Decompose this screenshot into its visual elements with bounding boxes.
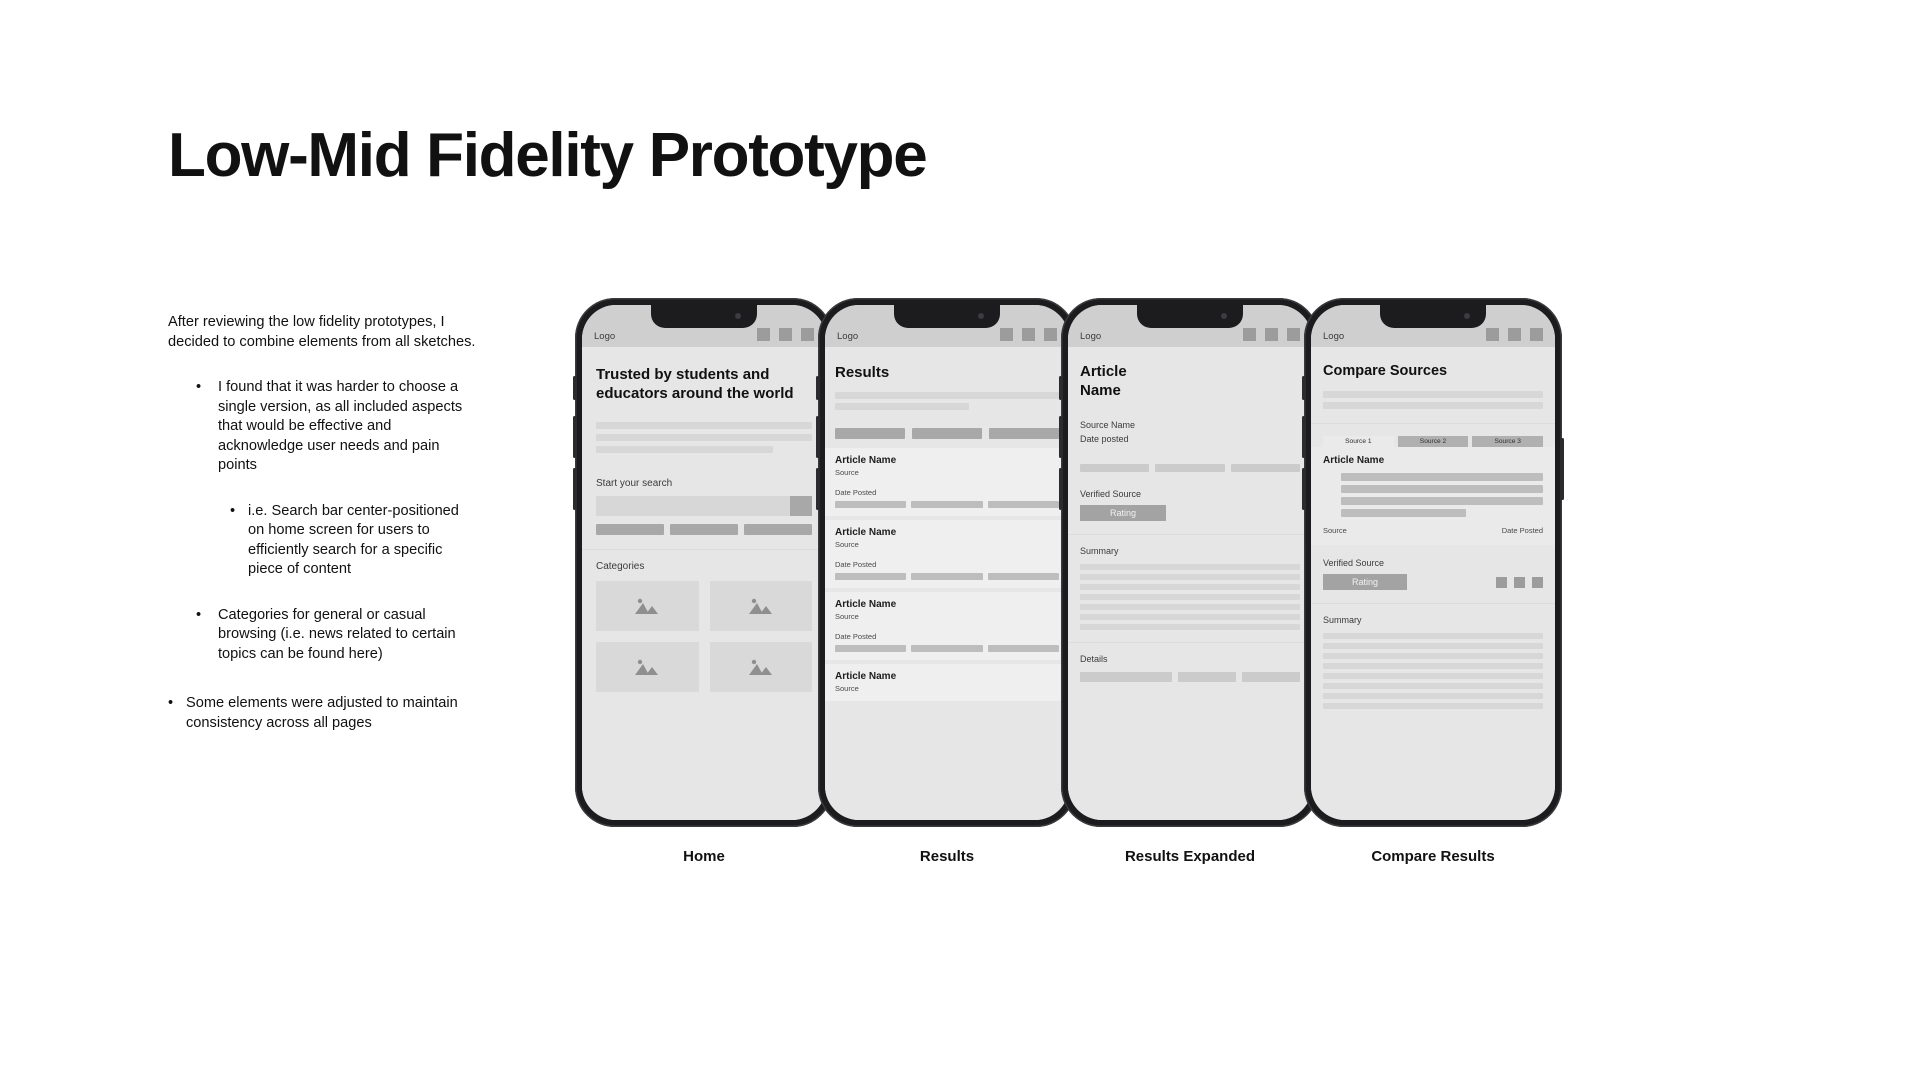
date-posted: Date posted — [1080, 434, 1300, 444]
placeholder-bar — [835, 573, 906, 580]
power-button — [1561, 438, 1564, 500]
filter-chip[interactable] — [670, 524, 738, 535]
article-title: Article Name — [835, 527, 1059, 538]
article-source: Source — [835, 684, 1059, 693]
placeholder-bar — [1323, 683, 1543, 689]
placeholder-bar — [835, 392, 1059, 399]
phone-screen-compare: Logo Compare Sources Source 1 Source — [1311, 305, 1555, 820]
nav-square-icon[interactable] — [801, 328, 814, 341]
nav-square-icon[interactable] — [1044, 328, 1057, 341]
search-icon[interactable] — [790, 496, 812, 516]
filter-chip[interactable] — [835, 428, 905, 439]
list-item: • I found that it was harder to choose a… — [196, 378, 478, 476]
divider — [1068, 534, 1312, 535]
nav-square-icon[interactable] — [1000, 328, 1013, 341]
camera-icon — [735, 313, 741, 319]
placeholder-bar — [1323, 693, 1543, 699]
camera-icon — [1221, 313, 1227, 319]
details-label: Details — [1080, 654, 1300, 664]
phone-caption-results-expanded: Results Expanded — [1061, 848, 1319, 865]
nav-square-icon[interactable] — [757, 328, 770, 341]
divider — [1311, 603, 1555, 604]
volume-up-button — [1302, 416, 1305, 458]
article-source: Source — [835, 612, 1059, 621]
page-title: Low-Mid Fidelity Prototype — [168, 120, 926, 191]
placeholder-bar — [1323, 663, 1543, 669]
verified-source-label: Verified Source — [1323, 558, 1543, 568]
volume-down-button — [816, 468, 819, 510]
placeholder-bar — [1323, 391, 1543, 398]
placeholder-bar — [1323, 633, 1543, 639]
phone-caption-home: Home — [575, 848, 833, 865]
rating-square-icon[interactable] — [1514, 577, 1525, 588]
rating-square-icon[interactable] — [1532, 577, 1543, 588]
hero-text-placeholder — [596, 422, 812, 453]
placeholder-bar — [835, 501, 906, 508]
article-date: Date Posted — [1502, 526, 1543, 535]
image-placeholder-icon — [748, 657, 774, 677]
summary-label: Summary — [1080, 546, 1300, 556]
tab-source-1[interactable]: Source 1 — [1323, 436, 1394, 447]
placeholder-bar — [911, 573, 982, 580]
action-chip[interactable] — [1155, 464, 1224, 472]
placeholder-bar — [988, 645, 1059, 652]
image-placeholder-icon — [634, 657, 660, 677]
action-chip[interactable] — [1231, 464, 1300, 472]
placeholder-bar — [596, 422, 812, 429]
details-chip-row — [1080, 672, 1300, 682]
volume-down-button — [1302, 468, 1305, 510]
article-date: Date Posted — [835, 560, 1059, 569]
nav-square-icon[interactable] — [1022, 328, 1035, 341]
notes-lead: After reviewing the low fidelity prototy… — [168, 313, 478, 352]
detail-chip[interactable] — [1242, 672, 1300, 682]
list-item: • Some elements were adjusted to maintai… — [168, 694, 478, 733]
results-expanded-body: Article Name Source Name Date posted Ver… — [1068, 362, 1312, 820]
phone-mockup-compare-results: Logo Compare Sources Source 1 Source — [1304, 298, 1562, 827]
divider — [1068, 642, 1312, 643]
category-grid-row — [596, 642, 812, 692]
placeholder-bar — [1323, 402, 1543, 409]
nav-square-icon[interactable] — [1486, 328, 1499, 341]
placeholder-bar — [835, 645, 906, 652]
nav-square-icon[interactable] — [1243, 328, 1256, 341]
article-heading-line2: Name — [1080, 381, 1300, 400]
image-placeholder-icon — [748, 596, 774, 616]
filter-chip-row — [596, 524, 812, 535]
phone-mockup-results: Logo Results — [818, 298, 1076, 827]
article-card[interactable]: Article Name Source Date Posted — [825, 520, 1069, 588]
summary-label: Summary — [1323, 615, 1543, 625]
hero-heading: Trusted by students and educators around… — [596, 365, 812, 403]
list-item-text: Some elements were adjusted to maintain … — [186, 694, 478, 733]
category-card[interactable] — [596, 581, 699, 631]
article-title: Article Name — [1323, 455, 1543, 466]
subtext-placeholder — [1323, 391, 1543, 409]
compare-body: Compare Sources Source 1 Source 2 Source… — [1311, 362, 1555, 820]
nav-icon-group — [1000, 328, 1057, 342]
phone-mockup-results-expanded: Logo Article Name Source Name Date poste… — [1061, 298, 1319, 827]
article-card[interactable]: Article Name Source Date Posted — [825, 592, 1069, 660]
placeholder-bar — [1080, 584, 1300, 590]
logo: Logo — [837, 331, 858, 342]
placeholder-bar — [1341, 497, 1543, 505]
volume-down-button — [1059, 468, 1062, 510]
summary-placeholder — [1080, 564, 1300, 630]
logo: Logo — [594, 331, 615, 342]
placeholder-bar — [1080, 564, 1300, 570]
volume-up-button — [1059, 416, 1062, 458]
placeholder-bar — [1080, 604, 1300, 610]
placeholder-bar — [596, 434, 812, 441]
phone-screen-results: Logo Results — [825, 305, 1069, 820]
placeholder-bar — [1080, 624, 1300, 630]
article-meta-row — [835, 573, 1059, 580]
volume-down-button — [573, 468, 576, 510]
placeholder-bar — [1080, 574, 1300, 580]
article-body-placeholder — [1323, 473, 1543, 517]
phone-caption-results: Results — [818, 848, 1076, 865]
action-chip-row — [1080, 464, 1300, 472]
article-source: Source — [835, 468, 1059, 477]
mute-switch — [1059, 376, 1062, 400]
volume-up-button — [573, 416, 576, 458]
list-item-text: I found that it was harder to choose a s… — [218, 378, 478, 476]
notch — [651, 305, 757, 328]
bullet-icon: • — [196, 606, 201, 626]
phone-caption-compare-results: Compare Results — [1304, 848, 1562, 865]
rating-icon-group — [1496, 577, 1543, 588]
placeholder-bar — [1323, 643, 1543, 649]
search-row[interactable] — [596, 496, 812, 516]
detail-chip[interactable] — [1080, 672, 1172, 682]
volume-up-button — [816, 416, 819, 458]
article-heading-line1: Article — [1080, 362, 1300, 381]
source-tab-row: Source 1 Source 2 Source 3 — [1323, 436, 1543, 447]
rating-square-icon[interactable] — [1496, 577, 1507, 588]
logo: Logo — [1080, 331, 1101, 342]
tab-source-2[interactable]: Source 2 — [1398, 436, 1469, 447]
article-source: Source — [835, 540, 1059, 549]
home-body: Trusted by students and educators around… — [582, 365, 826, 820]
divider — [1311, 423, 1555, 424]
category-card[interactable] — [710, 642, 813, 692]
article-source: Source — [1323, 526, 1347, 535]
logo: Logo — [1323, 331, 1344, 342]
nav-icon-group — [1243, 328, 1300, 342]
placeholder-bar — [1323, 703, 1543, 709]
article-meta-row: Source Date Posted — [1323, 526, 1543, 535]
detail-chip[interactable] — [1178, 672, 1236, 682]
category-card[interactable] — [596, 642, 699, 692]
nav-square-icon[interactable] — [779, 328, 792, 341]
placeholder-bar — [1080, 614, 1300, 620]
image-placeholder-icon — [634, 596, 660, 616]
source-name: Source Name — [1080, 420, 1300, 430]
filter-chip-row — [835, 428, 1059, 439]
notes-column: After reviewing the low fidelity prototy… — [168, 313, 478, 733]
verified-source-label: Verified Source — [1080, 489, 1300, 499]
placeholder-bar — [596, 446, 773, 453]
summary-placeholder — [1323, 633, 1543, 709]
nav-square-icon[interactable] — [1530, 328, 1543, 341]
subtext-placeholder — [835, 392, 1059, 410]
search-label: Start your search — [596, 478, 812, 489]
slide-canvas: Low-Mid Fidelity Prototype After reviewi… — [0, 0, 1920, 1080]
filter-chip[interactable] — [744, 524, 812, 535]
placeholder-bar — [1341, 485, 1543, 493]
placeholder-bar — [1323, 653, 1543, 659]
phone-screen-results-expanded: Logo Article Name Source Name Date poste… — [1068, 305, 1312, 820]
nav-icon-group — [1486, 328, 1543, 342]
list-item: • Categories for general or casual brows… — [196, 606, 478, 665]
camera-icon — [1464, 313, 1470, 319]
article-title: Article Name — [835, 671, 1059, 682]
article-date: Date Posted — [835, 488, 1059, 497]
action-chip[interactable] — [1080, 464, 1149, 472]
placeholder-bar — [988, 501, 1059, 508]
bullet-icon: • — [230, 502, 235, 522]
tab-source-3[interactable]: Source 3 — [1472, 436, 1543, 447]
tab-panel: Article Name Source Date Posted — [1311, 447, 1555, 545]
mute-switch — [573, 376, 576, 400]
nav-square-icon[interactable] — [1265, 328, 1278, 341]
article-meta-row — [835, 645, 1059, 652]
camera-icon — [978, 313, 984, 319]
mute-switch — [816, 376, 819, 400]
list-item-text: i.e. Search bar center-positioned on hom… — [248, 502, 478, 580]
filter-chip[interactable] — [912, 428, 982, 439]
bullet-icon: • — [168, 694, 173, 714]
mute-switch — [1302, 376, 1305, 400]
placeholder-bar — [835, 403, 969, 410]
placeholder-bar — [1323, 673, 1543, 679]
page-heading: Compare Sources — [1323, 362, 1543, 381]
article-date: Date Posted — [835, 632, 1059, 641]
list-item-text: Categories for general or casual browsin… — [218, 606, 478, 665]
article-title: Article Name — [835, 455, 1059, 466]
notes-bullet-list: • I found that it was harder to choose a… — [168, 378, 478, 733]
filter-chip[interactable] — [596, 524, 664, 535]
rating-row: Rating — [1323, 574, 1543, 590]
divider — [582, 549, 826, 550]
article-card[interactable]: Article Name Source Date Posted — [825, 448, 1069, 516]
notch — [1380, 305, 1486, 328]
nav-square-icon[interactable] — [1508, 328, 1521, 341]
category-card[interactable] — [710, 581, 813, 631]
search-input[interactable] — [596, 496, 790, 516]
article-meta-row — [835, 501, 1059, 508]
placeholder-bar — [1341, 509, 1466, 517]
placeholder-bar — [911, 501, 982, 508]
bullet-icon: • — [196, 378, 201, 398]
rating-badge: Rating — [1323, 574, 1407, 590]
page-heading: Results — [835, 363, 1059, 382]
nav-square-icon[interactable] — [1287, 328, 1300, 341]
placeholder-bar — [1080, 594, 1300, 600]
notch — [1137, 305, 1243, 328]
results-body: Results Article Name Source Date Posted — [825, 363, 1069, 820]
article-card[interactable]: Article Name Source — [825, 664, 1069, 701]
categories-label: Categories — [596, 561, 812, 572]
placeholder-bar — [911, 645, 982, 652]
phone-screen-home: Logo Trusted by students and educators a… — [582, 305, 826, 820]
placeholder-bar — [1341, 473, 1543, 481]
filter-chip[interactable] — [989, 428, 1059, 439]
rating-badge: Rating — [1080, 505, 1166, 521]
article-title: Article Name — [835, 599, 1059, 610]
nav-icon-group — [757, 328, 814, 342]
category-grid-row — [596, 581, 812, 631]
phone-mockup-home: Logo Trusted by students and educators a… — [575, 298, 833, 827]
placeholder-bar — [988, 573, 1059, 580]
notch — [894, 305, 1000, 328]
list-item: • i.e. Search bar center-positioned on h… — [230, 502, 478, 580]
